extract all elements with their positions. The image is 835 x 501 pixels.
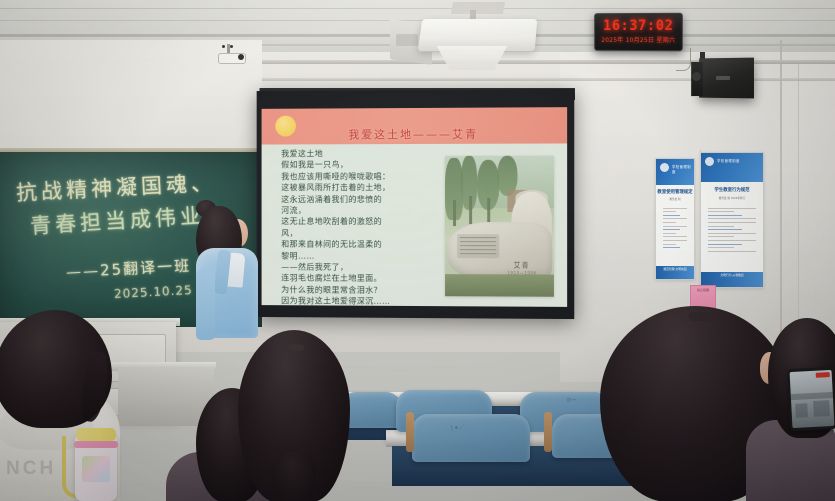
poem-line: 我也应该用嘶哑的喉咙歌唱： bbox=[281, 171, 432, 183]
student-front-center-hair-tie bbox=[288, 344, 304, 351]
poster-footer-text: 文明行为 从我做起 bbox=[701, 273, 763, 277]
poem-line: 连羽毛也腐烂在土地里面。 bbox=[281, 273, 432, 285]
photo-inscription-plaque bbox=[457, 234, 499, 258]
recording-phone[interactable] bbox=[787, 367, 835, 431]
poster-header-text: 学校管理制度 bbox=[717, 158, 740, 163]
classroom-scene: 抗战精神凝国魂、 青春担当成伟业 ——25翻译一班 2025.10.25 16:… bbox=[0, 0, 835, 501]
presenter-arm bbox=[196, 268, 215, 340]
poster-header-text: 学校管理制度 bbox=[672, 164, 694, 174]
poster-title: 学生教室行为规范 bbox=[701, 187, 763, 193]
poem-line: 这无止息地吹刮着的激怒的 bbox=[281, 216, 432, 228]
poster-subtitle: 教务处 制 2024年修订 bbox=[701, 196, 763, 200]
slide-photo-ai-qing-monument: 艾青 1910—1996 bbox=[445, 156, 554, 297]
led-wall-clock: 16:37:02 2025年 10月25日 星期六 bbox=[594, 13, 683, 51]
photo-statue-caption: 艾青 bbox=[513, 260, 529, 270]
poem-line: 我爱这土地 bbox=[281, 148, 432, 160]
ceiling-panel-line bbox=[0, 20, 835, 21]
student-front-right-hair-tie bbox=[688, 312, 714, 321]
poster-header: 学校管理制度 bbox=[656, 159, 694, 185]
poem-line: ——然后我死了， bbox=[281, 262, 432, 274]
clock-time: 16:37:02 bbox=[595, 18, 682, 34]
student-front-center-ponytail bbox=[272, 452, 316, 501]
phone-screen bbox=[790, 370, 835, 428]
seat-graffiti: ≋⌁ bbox=[566, 395, 577, 404]
poster-body bbox=[663, 205, 687, 251]
phone-record-indicator bbox=[816, 372, 830, 378]
poem-line: 为什么我的眼里常含泪水？ bbox=[281, 284, 432, 296]
speaker-badge bbox=[716, 76, 730, 80]
bottle-cap[interactable] bbox=[76, 428, 116, 441]
poster-logo-icon bbox=[660, 163, 669, 172]
poem-line: 黎明…… bbox=[281, 250, 432, 262]
student-hoodie-print: NCH bbox=[6, 458, 56, 480]
seat-frame bbox=[406, 412, 414, 452]
speaker-driver-icon bbox=[692, 72, 701, 81]
poster-body bbox=[708, 205, 756, 254]
seat-frame bbox=[544, 412, 552, 452]
projector-side-vent bbox=[396, 34, 418, 46]
lecture-seat[interactable] bbox=[412, 414, 530, 462]
bottle-label bbox=[82, 456, 110, 482]
bottle-ring bbox=[74, 441, 118, 448]
poem-line: 假如我是一只鸟， bbox=[281, 159, 432, 171]
slide-poem-text: 我爱这土地 假如我是一只鸟， 我也应该用嘶哑的喉咙歌唱： 这被暴风雨所打击着的土… bbox=[281, 148, 432, 307]
photo-ground bbox=[445, 274, 554, 297]
poster-header: 学校管理制度 bbox=[701, 153, 763, 182]
poster-logo-icon bbox=[705, 157, 714, 166]
wall-corner bbox=[780, 40, 782, 340]
projector-mount bbox=[451, 2, 505, 14]
poster-title: 教室使用管理规定 bbox=[656, 189, 694, 195]
poem-line: 河流， bbox=[281, 205, 432, 216]
photo-tree-trunk bbox=[487, 198, 490, 224]
presentation-slide: 我爱这土地———艾青 我爱这土地 假如我是一只鸟， 我也应该用嘶哑的喉咙歌唱： … bbox=[262, 107, 568, 307]
photo-tree-trunk bbox=[469, 196, 472, 224]
poem-line: 风， bbox=[281, 228, 432, 240]
ceiling-panel-line bbox=[0, 8, 835, 9]
poem-line: 这永远汹涌着我们的悲愤的 bbox=[281, 194, 432, 205]
wall-poster-left: 学校管理制度 教室使用管理规定 教务处 制 规范管理 文明校园 bbox=[655, 158, 695, 280]
wall-seam bbox=[798, 60, 799, 340]
poster-footer: 规范管理 文明校园 bbox=[656, 266, 694, 279]
poster-footer-text: 规范管理 文明校园 bbox=[656, 267, 694, 271]
wall-camera bbox=[218, 44, 244, 70]
camera-lens-icon bbox=[238, 54, 244, 60]
pink-notice-text: 禁止吸烟 bbox=[691, 288, 715, 292]
photo-tree-trunk bbox=[453, 200, 456, 226]
projection-screen: 我爱这土地———艾青 我爱这土地 假如我是一只鸟， 我也应该用嘶哑的喉咙歌唱： … bbox=[257, 89, 575, 319]
slide-title: 我爱这土地———艾青 bbox=[262, 125, 568, 142]
seat-graffiti: ⌇✦⟋ bbox=[450, 423, 465, 433]
poem-line: 因为我对这土地爱得深沉…… bbox=[281, 296, 432, 307]
wall-poster-right: 学校管理制度 学生教室行为规范 教务处 制 2024年修订 文明行为 从我做起 bbox=[700, 152, 764, 288]
clock-cable bbox=[676, 48, 691, 71]
poster-subtitle: 教务处 制 bbox=[656, 197, 694, 201]
poem-line: 这被暴风雨所打击着的土地， bbox=[281, 182, 432, 194]
clock-date: 2025年 10月25日 星期六 bbox=[595, 35, 682, 44]
poem-line: 和那来自林间的无比温柔的 bbox=[281, 239, 432, 251]
